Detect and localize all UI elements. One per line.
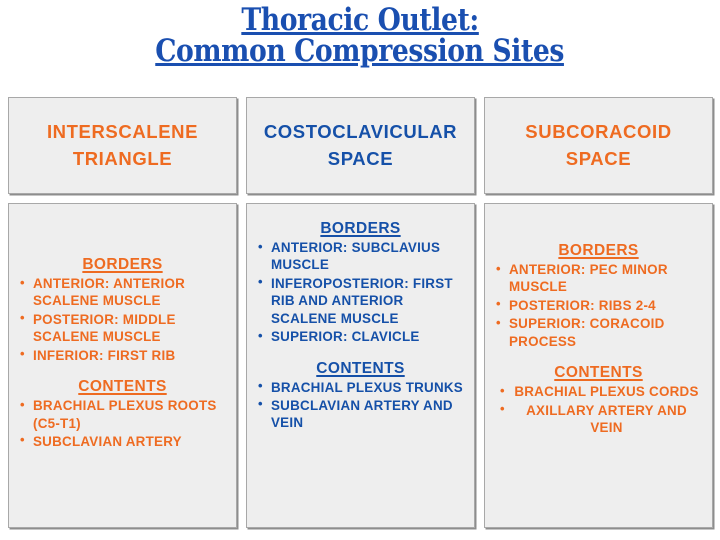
poster-title: Thoracic Outlet: Common Compression Site… [0, 0, 720, 67]
list-item: SUPERIOR: CORACOID PROCESS [492, 315, 705, 350]
list-borders: ANTERIOR: ANTERIOR SCALENE MUSCLE POSTER… [16, 275, 229, 364]
infographic-poster: Thoracic Outlet: Common Compression Site… [0, 0, 720, 540]
list-item: AXILLARY ARTERY AND VEIN [492, 402, 705, 437]
header-title-line-2: TRIANGLE [73, 148, 172, 169]
header-card-subcoracoid-space: SUBCORACOID SPACE [484, 97, 713, 194]
header-title-line-1: SUBCORACOID [525, 121, 671, 142]
list-item: SUPERIOR: CLAVICLE [254, 328, 467, 345]
column-subcoracoid-space: SUBCORACOID SPACE BORDERS ANTERIOR: PEC … [484, 97, 713, 528]
header-title-line-2: SPACE [328, 148, 393, 169]
header-card-costoclavicular-space: COSTOCLAVICULAR SPACE [246, 97, 475, 194]
column-costoclavicular-space: COSTOCLAVICULAR SPACE BORDERS ANTERIOR: … [246, 97, 475, 528]
header-title-line-1: INTERSCALENE [47, 121, 198, 142]
list-item: BRACHIAL PLEXUS ROOTS (C5-T1) [16, 397, 229, 432]
body-card-subcoracoid-space: BORDERS ANTERIOR: PEC MINOR MUSCLE POSTE… [484, 203, 713, 528]
title-line-1: Thoracic Outlet: [241, 4, 478, 36]
list-item: BRACHIAL PLEXUS TRUNKS [254, 379, 467, 396]
header-title-line-2: SPACE [566, 148, 631, 169]
section-contents: CONTENTS BRACHIAL PLEXUS CORDS AXILLARY … [492, 364, 705, 436]
list-item: SUBCLAVIAN ARTERY AND VEIN [254, 397, 467, 432]
list-item: POSTERIOR: RIBS 2-4 [492, 297, 705, 314]
section-contents: CONTENTS BRACHIAL PLEXUS ROOTS (C5-T1) S… [16, 378, 229, 450]
section-borders: BORDERS ANTERIOR: SUBCLAVIUS MUSCLE INFE… [254, 220, 467, 346]
list-item: INFEROPOSTERIOR: FIRST RIB AND ANTERIOR … [254, 275, 467, 327]
list-contents: BRACHIAL PLEXUS ROOTS (C5-T1) SUBCLAVIAN… [16, 397, 229, 450]
list-borders: ANTERIOR: SUBCLAVIUS MUSCLE INFEROPOSTER… [254, 239, 467, 346]
list-contents: BRACHIAL PLEXUS CORDS AXILLARY ARTERY AN… [492, 383, 705, 436]
header-title-interscalene-triangle: INTERSCALENE TRIANGLE [47, 119, 198, 172]
column-interscalene-triangle: INTERSCALENE TRIANGLE BORDERS ANTERIOR: … [8, 97, 237, 528]
header-title-line-1: COSTOCLAVICULAR [264, 121, 457, 142]
header-title-subcoracoid-space: SUBCORACOID SPACE [525, 119, 671, 172]
section-title-contents: CONTENTS [492, 364, 705, 382]
list-item: INFERIOR: FIRST RIB [16, 347, 229, 364]
section-contents: CONTENTS BRACHIAL PLEXUS TRUNKS SUBCLAVI… [254, 360, 467, 432]
list-item: POSTERIOR: MIDDLE SCALENE MUSCLE [16, 311, 229, 346]
section-borders: BORDERS ANTERIOR: PEC MINOR MUSCLE POSTE… [492, 242, 705, 350]
section-title-borders: BORDERS [16, 256, 229, 274]
list-borders: ANTERIOR: PEC MINOR MUSCLE POSTERIOR: RI… [492, 261, 705, 350]
section-title-borders: BORDERS [254, 220, 467, 238]
compression-sites-columns: INTERSCALENE TRIANGLE BORDERS ANTERIOR: … [8, 97, 713, 528]
body-card-interscalene-triangle: BORDERS ANTERIOR: ANTERIOR SCALENE MUSCL… [8, 203, 237, 528]
list-item: ANTERIOR: ANTERIOR SCALENE MUSCLE [16, 275, 229, 310]
title-line-2: Common Compression Sites [156, 35, 565, 67]
list-item: BRACHIAL PLEXUS CORDS [492, 383, 705, 400]
section-borders: BORDERS ANTERIOR: ANTERIOR SCALENE MUSCL… [16, 256, 229, 364]
section-title-borders: BORDERS [492, 242, 705, 260]
list-item: ANTERIOR: PEC MINOR MUSCLE [492, 261, 705, 296]
list-contents: BRACHIAL PLEXUS TRUNKS SUBCLAVIAN ARTERY… [254, 379, 467, 432]
list-item: ANTERIOR: SUBCLAVIUS MUSCLE [254, 239, 467, 274]
section-title-contents: CONTENTS [16, 378, 229, 396]
body-card-costoclavicular-space: BORDERS ANTERIOR: SUBCLAVIUS MUSCLE INFE… [246, 203, 475, 528]
header-card-interscalene-triangle: INTERSCALENE TRIANGLE [8, 97, 237, 194]
header-title-costoclavicular-space: COSTOCLAVICULAR SPACE [264, 119, 457, 172]
section-title-contents: CONTENTS [254, 360, 467, 378]
list-item: SUBCLAVIAN ARTERY [16, 433, 229, 450]
